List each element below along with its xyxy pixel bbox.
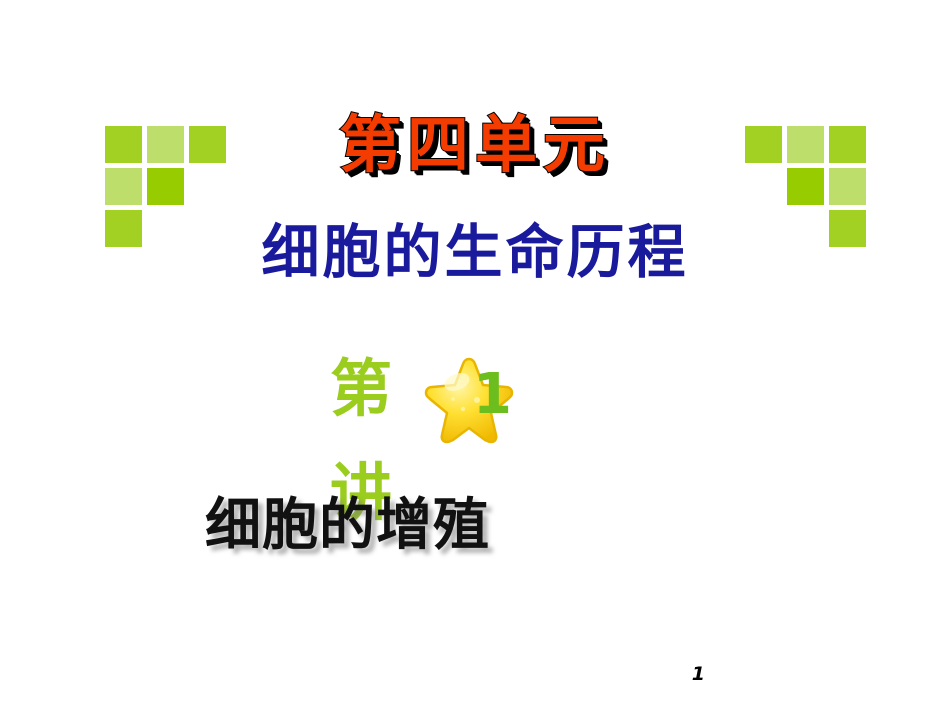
unit-title: 第四单元 bbox=[339, 112, 611, 177]
topic-title: 细胞的增殖 bbox=[205, 497, 490, 553]
star-icon: 1 bbox=[417, 354, 521, 454]
lesson-number-label: 1 bbox=[473, 367, 512, 423]
slide-canvas: 第四单元 细胞的生命历程 第 讲 1 细胞的增殖 1 bbox=[0, 0, 950, 713]
unit-title-row: 第四单元 bbox=[0, 112, 950, 177]
lesson-prefix-label: 第 bbox=[330, 358, 392, 420]
subtitle-row: 细胞的生命历程 bbox=[0, 222, 950, 283]
unit-subtitle: 细胞的生命历程 bbox=[261, 222, 688, 283]
page-number: 1 bbox=[692, 663, 705, 685]
